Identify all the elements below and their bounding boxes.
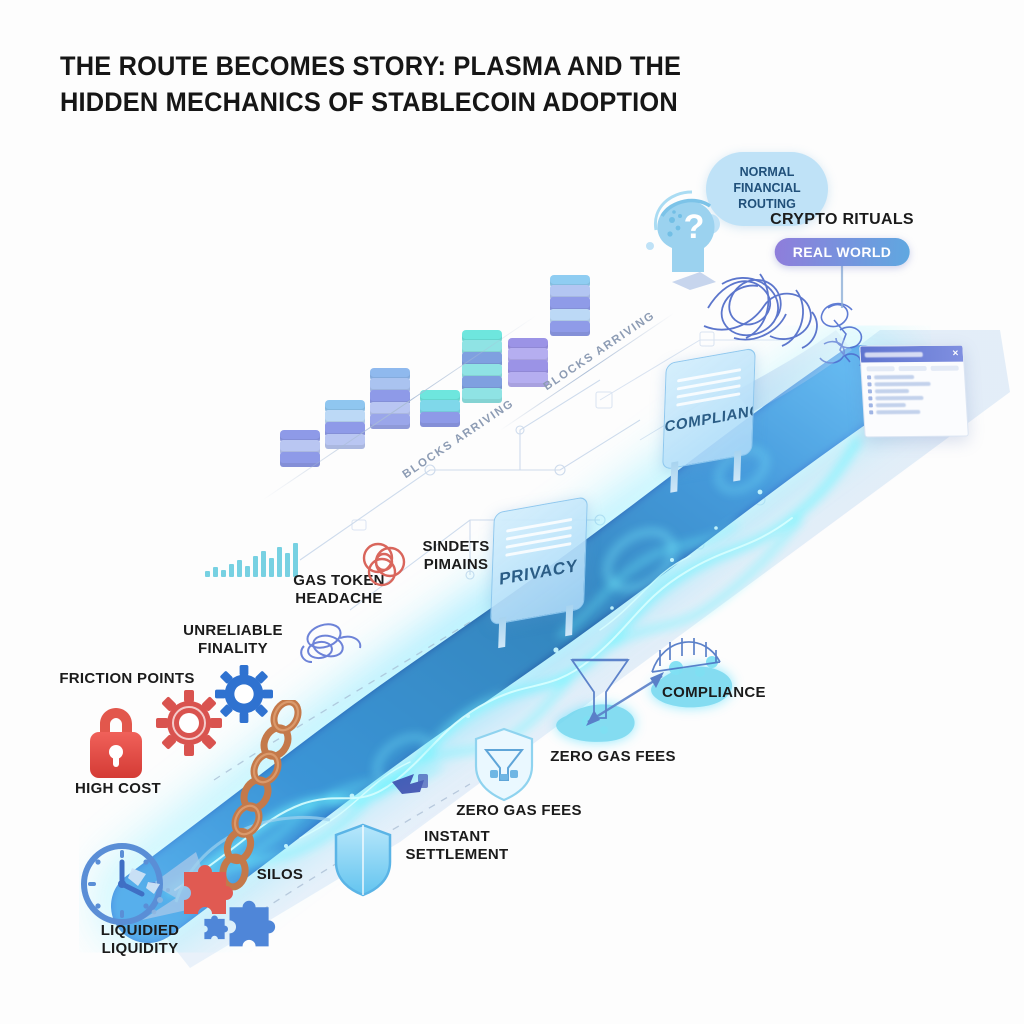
block-tower [370, 368, 410, 426]
dialog-title-bar: ✕ [860, 346, 963, 363]
block-tower [325, 400, 365, 446]
label-compliance-arrow: COMPLIANCE [662, 684, 812, 702]
label-sindets-pimains: SINDETS PIMAINS [386, 538, 526, 573]
block-tower [280, 430, 320, 464]
block-tower [420, 390, 460, 424]
dialog-title-text [865, 351, 923, 356]
label-silos: SILOS [235, 866, 325, 884]
label-instant-settlement: INSTANT SETTLEMENT [382, 828, 532, 863]
label-zero-gas-fees-lower: ZERO GAS FEES [444, 802, 594, 820]
gateway-leg [670, 461, 678, 492]
puzzle-piece-icon [222, 898, 278, 952]
infographic-canvas: THE ROUTE BECOMES STORY: PLASMA AND THE … [0, 0, 1024, 1024]
gateway-compliance[interactable]: COMPLIANCE [662, 348, 754, 468]
broken-clock-icon [76, 838, 172, 934]
funnel-shield-icon [472, 726, 536, 804]
label-high-cost: HIGH COST [58, 780, 178, 798]
dialog-tabs[interactable] [861, 362, 964, 374]
close-icon[interactable]: ✕ [952, 350, 959, 358]
label-unreliable-finality: UNRELIABLE FINALITY [160, 622, 306, 657]
label-friction-points: FRICTION POINTS [52, 670, 202, 688]
crypto-rituals-heading: CRYPTO RITUALS [742, 211, 942, 230]
block-tower [550, 275, 590, 333]
label-liquidied-liquidity: LIQUIDIED LIQUIDITY [60, 922, 220, 957]
tangled-loops-icon [296, 616, 366, 672]
gateway-leg [498, 617, 506, 648]
head-question-icon: ? [642, 186, 738, 278]
page-title: THE ROUTE BECOMES STORY: PLASMA AND THE … [60, 48, 718, 120]
dialog-window[interactable]: ✕ [859, 345, 969, 438]
puzzle-piece-icon [200, 914, 230, 942]
lock-icon [80, 700, 152, 784]
list-item[interactable] [864, 408, 967, 416]
svg-text:?: ? [684, 208, 705, 246]
gateway-leg [733, 450, 741, 481]
label-zero-gas-fees-upper: ZERO GAS FEES [538, 748, 688, 766]
real-world-pill[interactable]: REAL WORLD [775, 238, 910, 266]
gateway-leg [565, 605, 573, 636]
block-tower [508, 338, 548, 384]
